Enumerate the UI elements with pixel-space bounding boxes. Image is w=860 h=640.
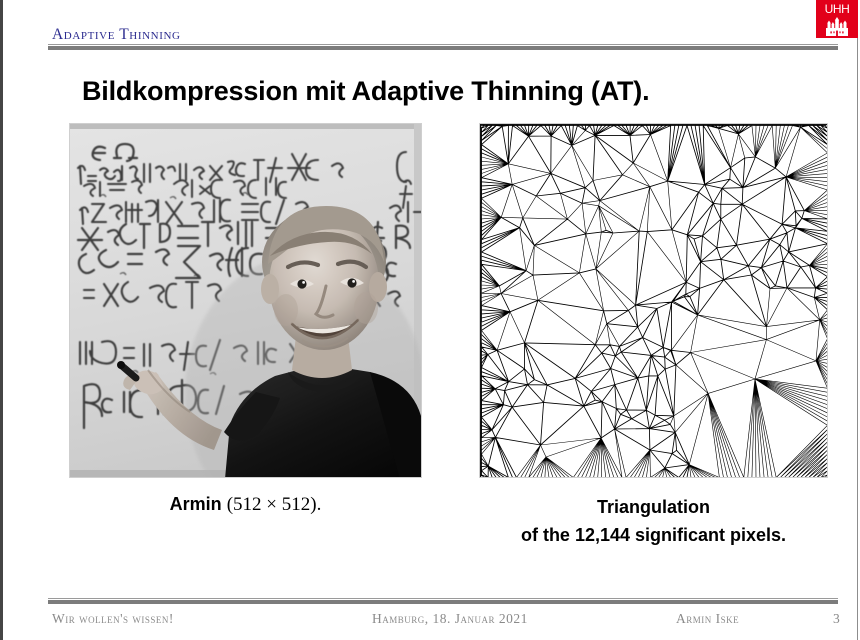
hamburg-castle-icon xyxy=(826,17,848,38)
left-figure-caption: Armin (512 × 512). xyxy=(69,494,422,516)
footer-motto: Wir wollen's wissen! xyxy=(52,611,174,627)
page-left-border xyxy=(0,0,3,640)
right-caption-line2: of the 12,144 significant pixels. xyxy=(479,522,828,550)
header-title: Adaptive Thinning xyxy=(52,26,181,44)
footer-venue-date: Hamburg, 18. Januar 2021 xyxy=(372,611,528,627)
page-title: Bildkompression mit Adaptive Thinning (A… xyxy=(82,76,649,107)
uhh-logo-text: UHH xyxy=(816,2,858,16)
header-rule-thick xyxy=(48,46,838,50)
right-caption-line1: Triangulation xyxy=(479,494,828,522)
left-caption-size: (512 × 512). xyxy=(227,494,322,515)
left-caption-name: Armin xyxy=(170,494,222,514)
slide-page: Adaptive Thinning UHH xyxy=(0,0,860,640)
armin-photograph xyxy=(69,123,422,478)
footer-page-number: 3 xyxy=(833,611,840,627)
uhh-logo: UHH xyxy=(816,0,858,38)
triangulation-mesh xyxy=(479,123,828,478)
page-right-border xyxy=(857,0,858,640)
footer-author: Armin Iske xyxy=(676,611,739,627)
right-figure-caption: Triangulation of the 12,144 significant … xyxy=(479,494,828,550)
footer-rule-thin xyxy=(48,598,838,599)
footer-rule-thick xyxy=(48,600,838,604)
header-rule-thin xyxy=(48,44,838,45)
